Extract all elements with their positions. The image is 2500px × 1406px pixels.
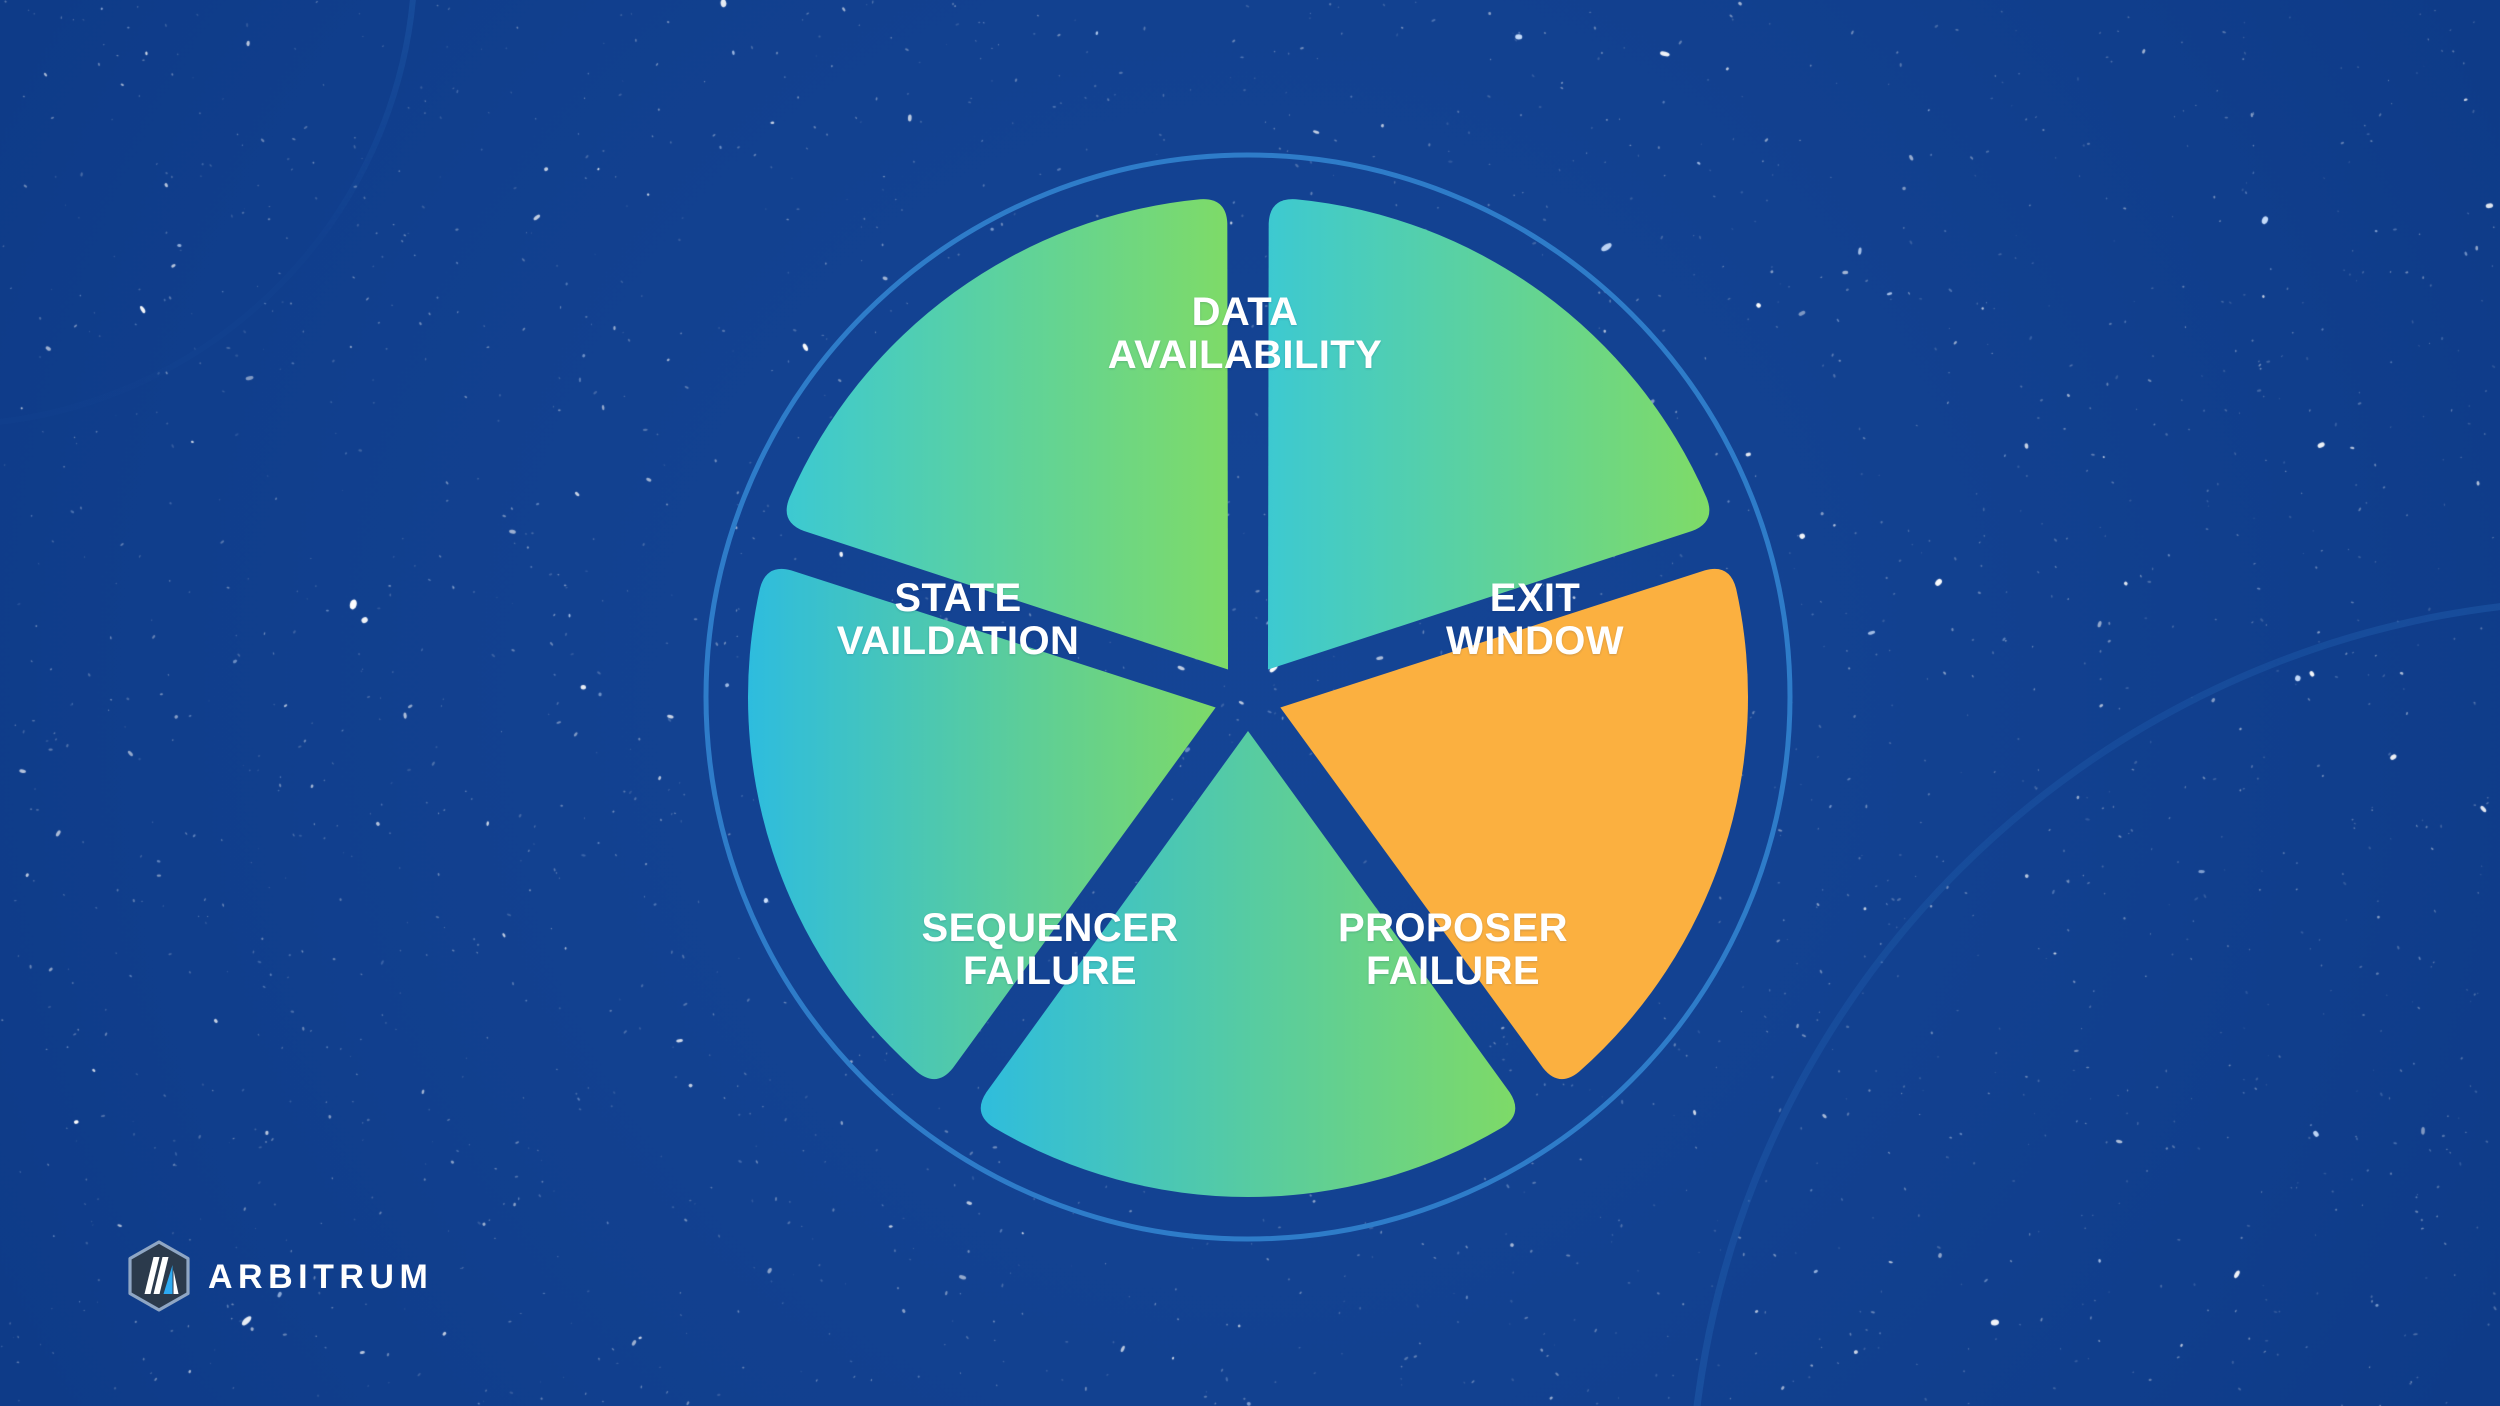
slice-label-exit-window: EXIT WINDOW bbox=[1446, 577, 1624, 663]
pie-slice-layer bbox=[748, 199, 1748, 1197]
brand-logo: ARBITRUM bbox=[126, 1240, 433, 1312]
pie-slice-state-vaildation[interactable] bbox=[787, 199, 1228, 669]
starfield-background bbox=[0, 0, 2500, 1406]
pie-outer-ring bbox=[706, 155, 1790, 1239]
pie-slice-proposer-failure[interactable] bbox=[981, 731, 1516, 1197]
slice-label-state-vaildation: STATE VAILDATION bbox=[837, 577, 1080, 663]
decorative-arcs bbox=[0, 0, 2500, 1406]
arbitrum-hexagon-logo bbox=[126, 1240, 192, 1312]
slice-label-data-availability: DATA AVAILABILITY bbox=[1108, 291, 1382, 377]
poster-canvas: DATA AVAILABILITYEXIT WINDOWPROPOSER FAI… bbox=[0, 0, 2500, 1406]
brand-wordmark: ARBITRUM bbox=[208, 1258, 433, 1294]
pie-slice-data-availability[interactable] bbox=[1268, 199, 1709, 669]
slice-label-sequencer-failure: SEQUENCER FAILURE bbox=[922, 907, 1179, 993]
pie-slice-exit-window[interactable] bbox=[1280, 569, 1748, 1079]
decorative-arc-bottom-right bbox=[1690, 600, 2500, 1406]
decorative-arc-top-left bbox=[0, 0, 415, 425]
pie-slice-sequencer-failure[interactable] bbox=[748, 569, 1216, 1079]
slice-label-proposer-failure: PROPOSER FAILURE bbox=[1338, 907, 1568, 993]
pie-outer-ring-circle bbox=[706, 155, 1790, 1239]
pie-chart bbox=[0, 0, 2500, 1406]
